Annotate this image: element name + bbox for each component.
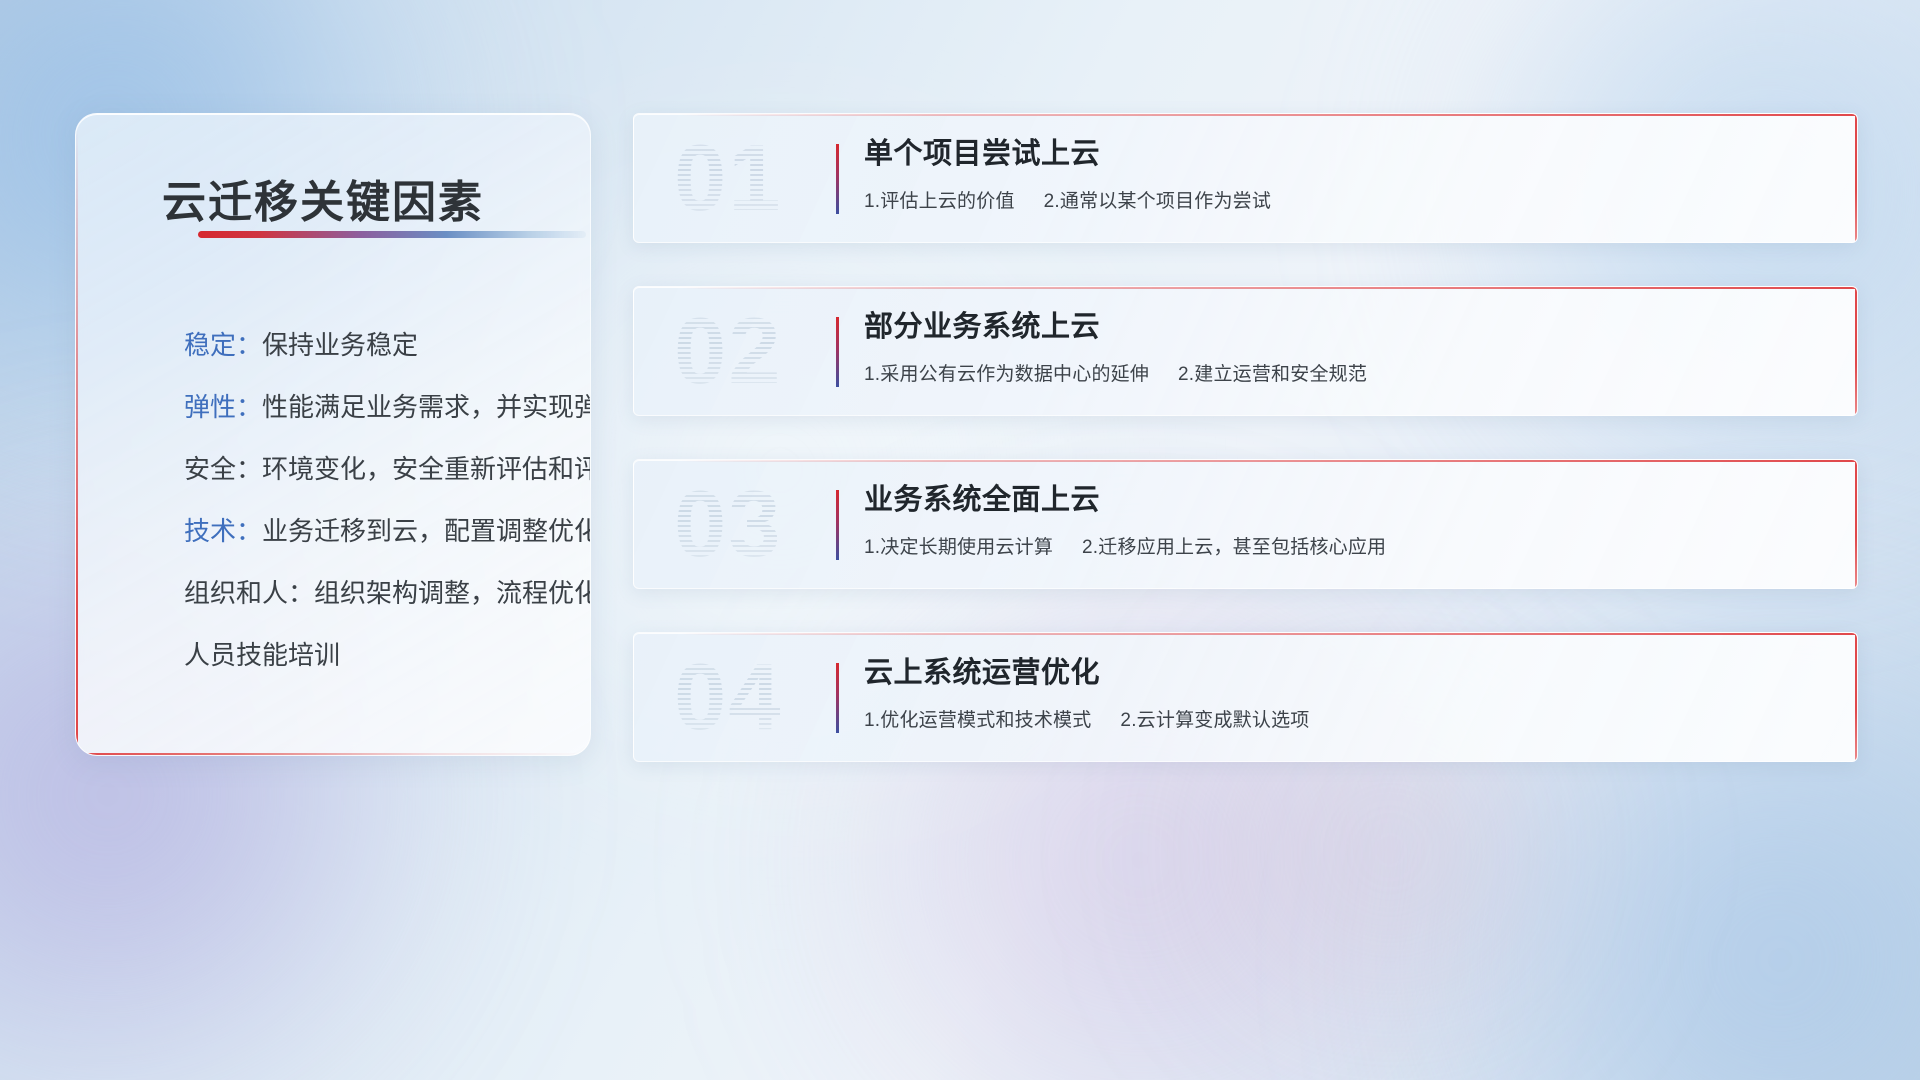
stage-title: 单个项目尝试上云 bbox=[864, 136, 1821, 172]
factor-label: 稳定： bbox=[184, 332, 262, 358]
stage-point-1: 1.决定长期使用云计算 bbox=[864, 537, 1053, 558]
stage-point-2: 2.迁移应用上云，甚至包括核心应用 bbox=[1082, 537, 1386, 558]
stage-title: 云上系统运营优化 bbox=[864, 655, 1821, 691]
factor-text: 组织架构调整，流程优化， bbox=[314, 580, 591, 606]
stage-title: 业务系统全面上云 bbox=[864, 482, 1821, 518]
stage-card-list: 01 单个项目尝试上云 1.评估上云的价值 2.通常以某个项目作为尝试 02 部… bbox=[633, 113, 1858, 805]
factor-list: 稳定： 保持业务稳定 弹性： 性能满足业务需求，并实现弹性 安全： 环境变化，安… bbox=[106, 314, 564, 686]
stage-card-body: 单个项目尝试上云 1.评估上云的价值 2.通常以某个项目作为尝试 bbox=[864, 136, 1821, 213]
list-item: 弹性： 性能满足业务需求，并实现弹性 bbox=[106, 376, 564, 438]
stage-card-body: 云上系统运营优化 1.优化运营模式和技术模式 2.云计算变成默认选项 bbox=[864, 655, 1821, 732]
stage-number-01: 01 bbox=[674, 124, 859, 232]
stage-point-1: 1.评估上云的价值 bbox=[864, 191, 1015, 212]
stage-title: 部分业务系统上云 bbox=[864, 309, 1821, 345]
stage-number-04: 04 bbox=[674, 643, 859, 751]
stage-card-body: 部分业务系统上云 1.采用公有云作为数据中心的延伸 2.建立运营和安全规范 bbox=[864, 309, 1821, 386]
list-item: 稳定： 保持业务稳定 bbox=[106, 314, 564, 376]
key-factors-panel: 云迁移关键因素 稳定： 保持业务稳定 弹性： 性能满足业务需求，并实现弹性 安全… bbox=[75, 113, 591, 756]
factor-text: 保持业务稳定 bbox=[262, 332, 418, 358]
stage-point-1: 1.采用公有云作为数据中心的延伸 bbox=[864, 364, 1149, 385]
stage-points: 1.决定长期使用云计算 2.迁移应用上云，甚至包括核心应用 bbox=[864, 532, 1821, 559]
factor-text: 业务迁移到云，配置调整优化 bbox=[262, 518, 591, 544]
factor-label: 安全： bbox=[184, 456, 262, 482]
factor-text: 人员技能培训 bbox=[184, 642, 340, 668]
stage-point-2: 2.建立运营和安全规范 bbox=[1178, 364, 1367, 385]
stage-card-body: 业务系统全面上云 1.决定长期使用云计算 2.迁移应用上云，甚至包括核心应用 bbox=[864, 482, 1821, 559]
list-item: 技术： 业务迁移到云，配置调整优化 bbox=[106, 500, 564, 562]
factor-text: 性能满足业务需求，并实现弹性 bbox=[262, 394, 591, 420]
factor-text: 环境变化，安全重新评估和评审 bbox=[262, 456, 591, 482]
factor-label: 技术： bbox=[184, 518, 262, 544]
stage-points: 1.评估上云的价值 2.通常以某个项目作为尝试 bbox=[864, 186, 1821, 213]
stage-number-02: 02 bbox=[674, 297, 859, 405]
list-item: 安全： 环境变化，安全重新评估和评审 bbox=[106, 438, 564, 500]
accent-bar bbox=[836, 317, 839, 387]
title-underline bbox=[198, 231, 586, 238]
stage-point-2: 2.通常以某个项目作为尝试 bbox=[1044, 191, 1271, 212]
factor-label: 组织和人： bbox=[184, 580, 314, 606]
stage-card-04[interactable]: 04 云上系统运营优化 1.优化运营模式和技术模式 2.云计算变成默认选项 bbox=[633, 632, 1858, 762]
slide-stage: 云迁移关键因素 稳定： 保持业务稳定 弹性： 性能满足业务需求，并实现弹性 安全… bbox=[0, 0, 1920, 1080]
factor-label: 弹性： bbox=[184, 394, 262, 420]
accent-bar bbox=[836, 663, 839, 733]
stage-card-03[interactable]: 03 业务系统全面上云 1.决定长期使用云计算 2.迁移应用上云，甚至包括核心应… bbox=[633, 459, 1858, 589]
list-item-continuation: 人员技能培训 bbox=[106, 624, 564, 686]
list-item: 组织和人： 组织架构调整，流程优化， bbox=[106, 562, 564, 624]
stage-points: 1.采用公有云作为数据中心的延伸 2.建立运营和安全规范 bbox=[864, 359, 1821, 386]
stage-points: 1.优化运营模式和技术模式 2.云计算变成默认选项 bbox=[864, 705, 1821, 732]
page-title: 云迁移关键因素 bbox=[162, 166, 484, 230]
stage-point-1: 1.优化运营模式和技术模式 bbox=[864, 710, 1091, 731]
stage-number-03: 03 bbox=[674, 470, 859, 578]
accent-bar bbox=[836, 490, 839, 560]
stage-card-02[interactable]: 02 部分业务系统上云 1.采用公有云作为数据中心的延伸 2.建立运营和安全规范 bbox=[633, 286, 1858, 416]
stage-card-01[interactable]: 01 单个项目尝试上云 1.评估上云的价值 2.通常以某个项目作为尝试 bbox=[633, 113, 1858, 243]
accent-bar bbox=[836, 144, 839, 214]
stage-point-2: 2.云计算变成默认选项 bbox=[1120, 710, 1309, 731]
